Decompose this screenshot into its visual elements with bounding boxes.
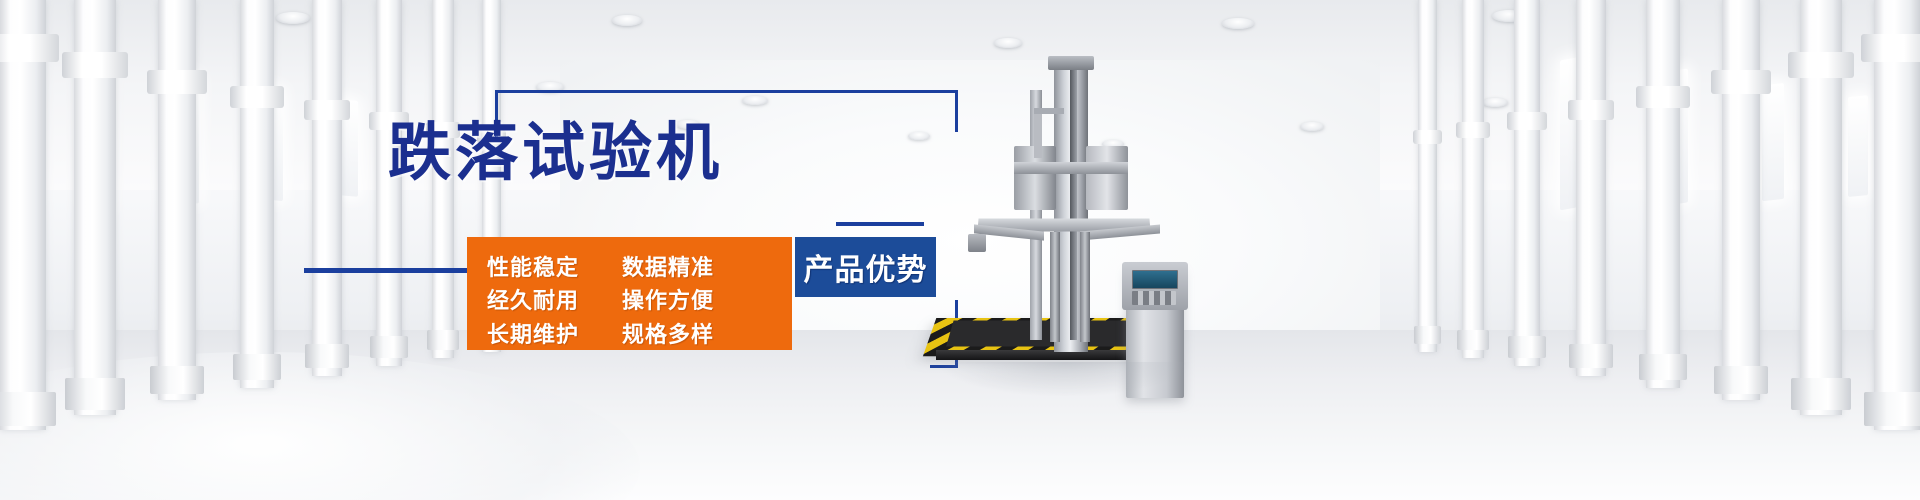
column bbox=[1514, 0, 1540, 366]
column bbox=[1576, 0, 1606, 376]
column bbox=[0, 0, 46, 430]
feature-list-panel: 性能稳定 数据精准 经久耐用 操作方便 长期维护 规格多样 bbox=[467, 237, 792, 350]
column bbox=[312, 0, 342, 376]
column bbox=[240, 0, 274, 388]
ceiling-light-panel bbox=[1762, 83, 1784, 201]
ceiling-downlight bbox=[276, 12, 310, 24]
machine-floor-reflection bbox=[940, 362, 1190, 396]
column bbox=[1874, 0, 1920, 430]
ceiling-downlight bbox=[1482, 98, 1508, 107]
column bbox=[1722, 0, 1760, 400]
badge-label: 产品优势 bbox=[804, 245, 928, 289]
column bbox=[1800, 0, 1842, 415]
ceiling-downlight bbox=[1222, 18, 1254, 29]
drop-test-machine bbox=[930, 50, 1260, 390]
page-title: 跌落试验机 bbox=[388, 118, 723, 188]
ceiling-downlight bbox=[612, 15, 642, 26]
ceiling-light-panel bbox=[1848, 95, 1868, 197]
feature-item: 操作方便 bbox=[622, 283, 714, 315]
feature-item: 性能稳定 bbox=[487, 250, 622, 282]
feature-row: 经久耐用 操作方便 bbox=[467, 283, 792, 317]
upper-support-arm bbox=[1034, 108, 1064, 114]
column bbox=[74, 0, 116, 415]
column bbox=[1462, 0, 1484, 358]
drop-carriage bbox=[1086, 146, 1128, 210]
feature-row: 性能稳定 数据精准 bbox=[467, 249, 792, 283]
mast-top-cap bbox=[1048, 56, 1094, 70]
frame-leg bbox=[1050, 232, 1060, 342]
product-advantage-badge: 产品优势 bbox=[795, 237, 936, 297]
ceiling-downlight bbox=[908, 132, 930, 140]
carriage-crossbar bbox=[1014, 162, 1128, 174]
frame-leg bbox=[1080, 232, 1090, 342]
impact-base-front-edge bbox=[936, 350, 1156, 360]
control-panel-keypad bbox=[1132, 291, 1176, 305]
ceiling-downlight bbox=[742, 96, 768, 105]
feature-item: 规格多样 bbox=[622, 317, 714, 349]
ceiling-downlight bbox=[1300, 122, 1324, 131]
product-banner: 跌落试验机 性能稳定 数据精准 经久耐用 操作方便 长期维护 规格多样 产品优势 bbox=[0, 0, 1920, 500]
frame-right-connector-line bbox=[836, 222, 924, 226]
impact-base-top bbox=[946, 321, 1144, 347]
column bbox=[1418, 0, 1437, 352]
support-arm-tip-left bbox=[968, 234, 986, 252]
upper-support-arm bbox=[1034, 108, 1042, 158]
feature-item: 长期维护 bbox=[487, 317, 622, 349]
frame-top-horizontal bbox=[495, 90, 958, 93]
mast-rail bbox=[1070, 70, 1077, 340]
column bbox=[1646, 0, 1680, 388]
feature-item: 经久耐用 bbox=[487, 283, 622, 315]
ceiling-downlight bbox=[994, 38, 1022, 48]
column bbox=[158, 0, 196, 400]
control-panel-screen bbox=[1132, 270, 1178, 289]
feature-item: 数据精准 bbox=[622, 250, 714, 282]
frame-left-connector-line bbox=[304, 268, 467, 273]
feature-row: 长期维护 规格多样 bbox=[467, 316, 792, 350]
